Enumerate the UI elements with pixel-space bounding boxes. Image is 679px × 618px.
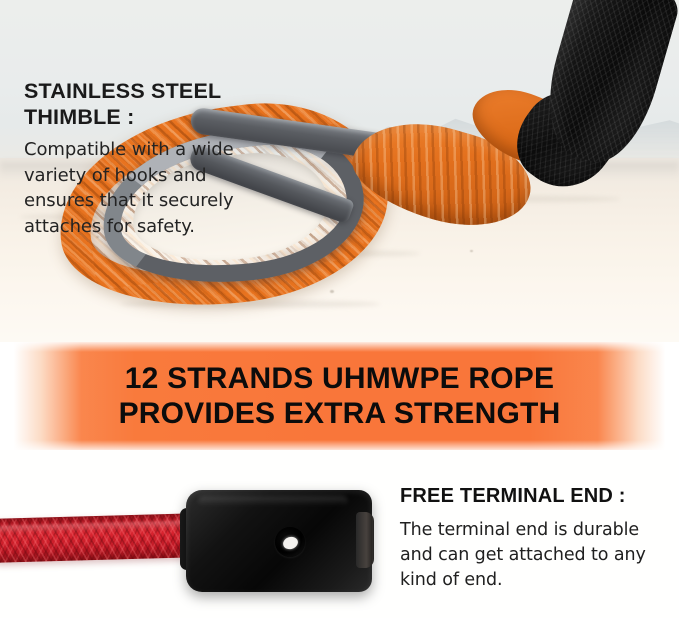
thimble-heading-line2: THIMBLE :: [24, 105, 134, 129]
red-braided-rope: [0, 513, 200, 563]
thimble-heading-line1: STAINLESS STEEL: [24, 79, 221, 103]
infographic-page: STAINLESS STEEL THIMBLE : Compatible wit…: [0, 0, 679, 618]
banner-line-2: PROVIDES EXTRA STRENGTH: [119, 396, 561, 431]
terminal-text-block: FREE TERMINAL END : The terminal end is …: [400, 484, 668, 593]
thimble-text-block: STAINLESS STEEL THIMBLE : Compatible wit…: [24, 78, 286, 239]
thimble-body-line4: attaches for safety.: [24, 216, 195, 237]
thimble-body-line2: variety of hooks and: [24, 165, 206, 186]
thimble-body-line3: ensures that it securely: [24, 190, 234, 211]
terminal-far-edge: [356, 512, 374, 568]
strength-banner: 12 STRANDS UHMWPE ROPE PROVIDES EXTRA ST…: [0, 342, 679, 450]
terminal-heading: FREE TERMINAL END :: [400, 484, 668, 508]
thimble-body: Compatible with a wide variety of hooks …: [24, 137, 286, 239]
terminal-body: The terminal end is durable and can get …: [400, 518, 668, 593]
terminal-top-highlight: [198, 496, 348, 506]
banner-line-1: 12 STRANDS UHMWPE ROPE: [125, 361, 554, 396]
thimble-heading: STAINLESS STEEL THIMBLE :: [24, 78, 286, 130]
terminal-body-line2: and can get attached to any: [400, 545, 646, 565]
top-feature-panel: STAINLESS STEEL THIMBLE : Compatible wit…: [0, 0, 679, 342]
terminal-body-line3: kind of end.: [400, 570, 503, 590]
thimble-body-line1: Compatible with a wide: [24, 139, 234, 160]
terminal-body-line1: The terminal end is durable: [400, 520, 639, 540]
